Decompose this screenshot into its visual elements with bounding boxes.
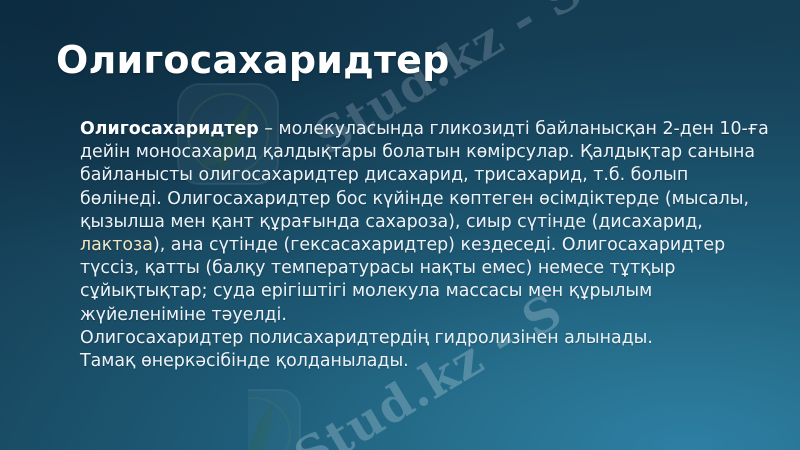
- slide-body: Олигосахаридтер – молекуласында гликозид…: [80, 118, 770, 373]
- presentation-slide: Stud.kz - Stud Stud.kz - S Олигосахаридт…: [0, 0, 800, 450]
- highlight-term: лактоза: [80, 235, 153, 255]
- body-text-part-2: ), ана сүтінде (гексасахаридтер) кездесе…: [80, 235, 725, 325]
- slide-title: Олигосахаридтер: [56, 38, 450, 82]
- leaf-logo-secondary-icon: [248, 382, 348, 450]
- body-paragraph-1: Олигосахаридтер – молекуласында гликозид…: [80, 118, 770, 327]
- body-paragraph-2: Олигосахаридтер полисахаридтердің гидрол…: [80, 327, 770, 350]
- lead-term: Олигосахаридтер: [80, 119, 259, 139]
- body-paragraph-3: Тамақ өнеркәсібінде қолданылады.: [80, 350, 770, 373]
